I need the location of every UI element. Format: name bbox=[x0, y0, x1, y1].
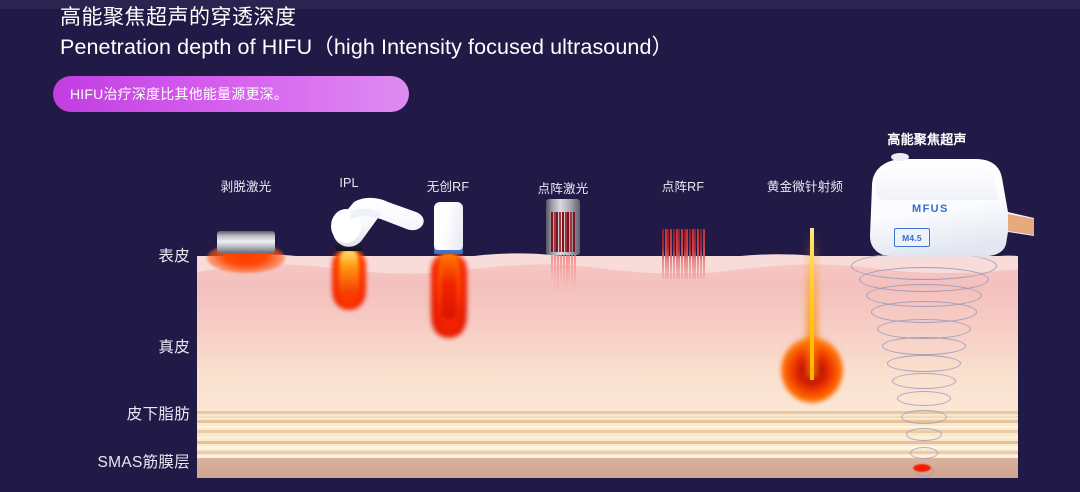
fractional-rf-line bbox=[703, 229, 705, 279]
fractional-rf-line bbox=[673, 229, 675, 279]
hifu-brand-label: MFUS bbox=[912, 203, 949, 215]
fractional-laser-microcolumns bbox=[551, 212, 575, 252]
hifu-wave-ring bbox=[887, 355, 961, 373]
layer-label-epidermis: 表皮 bbox=[40, 244, 190, 266]
fractional-laser-ray bbox=[563, 252, 565, 290]
hifu-ultrasound-cone bbox=[848, 252, 996, 474]
device-label-gold-microneedle-rf: 黄金微针射频 bbox=[767, 176, 843, 195]
hifu-cartridge-label: M4.5 bbox=[902, 233, 922, 243]
fractional-rf-line bbox=[686, 229, 688, 279]
fractional-rf-line bbox=[697, 229, 699, 279]
fractional-laser-column bbox=[562, 212, 564, 252]
fractional-laser-ray bbox=[554, 252, 556, 290]
fractional-laser-column bbox=[556, 212, 558, 252]
hifu-wave-ring bbox=[877, 319, 971, 339]
hifu-wave-ring bbox=[892, 373, 956, 389]
fractional-laser-ray bbox=[571, 252, 573, 290]
device-label-fractional-rf: 点阵RF bbox=[662, 176, 704, 195]
page-title: 高能聚焦超声的穿透深度 Penetration depth of HIFU（hi… bbox=[60, 4, 673, 62]
hifu-wave-ring bbox=[910, 447, 938, 459]
fractional-rf-line bbox=[692, 229, 694, 279]
device-label-non-ablative-rf: 无创RF bbox=[427, 176, 469, 195]
fractional-laser-column bbox=[551, 212, 553, 252]
hifu-focal-point bbox=[913, 464, 931, 472]
fractional-rf-line bbox=[689, 229, 691, 279]
ipl-beam-core bbox=[340, 250, 358, 296]
fractional-rf-line bbox=[662, 229, 664, 279]
hifu-wave-ring bbox=[882, 337, 966, 356]
fractional-rf-line bbox=[670, 229, 672, 279]
hifu-wave-ring bbox=[897, 391, 952, 406]
fractional-laser-column bbox=[554, 212, 556, 252]
fractional-laser-ray bbox=[566, 252, 568, 294]
gold-microneedle-shaft bbox=[810, 228, 814, 380]
device-label-hifu: 高能聚焦超声 bbox=[887, 129, 966, 148]
fractional-laser-column bbox=[559, 212, 561, 252]
fractional-laser-ray bbox=[568, 252, 570, 286]
fractional-laser-ray bbox=[574, 252, 576, 294]
fractional-laser-column bbox=[567, 212, 569, 252]
callout-text: HIFU治疗深度比其他能量源更深。 bbox=[53, 84, 288, 104]
ipl-handpiece bbox=[316, 196, 426, 256]
fractional-rf-line bbox=[678, 229, 680, 279]
device-label-ablative-laser: 剥脱激光 bbox=[221, 176, 272, 195]
fractional-laser-ray bbox=[560, 252, 562, 286]
callout-pill: HIFU治疗深度比其他能量源更深。 bbox=[53, 76, 409, 112]
fractional-rf-line bbox=[676, 229, 678, 279]
device-label-fractional-laser: 点阵激光 bbox=[538, 178, 589, 197]
title-english: Penetration depth of HIFU（high Intensity… bbox=[60, 32, 673, 62]
fractional-rf-line bbox=[700, 229, 702, 279]
fractional-laser-ray bbox=[557, 252, 559, 294]
hifu-cartridge-badge: M4.5 bbox=[894, 228, 930, 247]
title-chinese: 高能聚焦超声的穿透深度 bbox=[60, 4, 673, 32]
fractional-laser-ray bbox=[551, 252, 553, 286]
fractional-rf-line bbox=[681, 229, 683, 279]
fractional-laser-column bbox=[565, 212, 567, 252]
hifu-wave-ring bbox=[906, 428, 943, 441]
fractional-laser-column bbox=[570, 212, 572, 252]
fractional-laser-column bbox=[573, 212, 575, 252]
non-ablative-rf-beam-core bbox=[441, 254, 457, 320]
fractional-rf-line bbox=[667, 229, 669, 279]
fractional-rf-line bbox=[684, 229, 686, 279]
device-fractional-rf bbox=[662, 229, 706, 281]
fractional-rf-line bbox=[665, 229, 667, 279]
layer-label-smas: SMAS筋膜层 bbox=[10, 450, 190, 472]
hifu-wave-ring bbox=[901, 410, 947, 424]
fractional-laser-rays bbox=[548, 252, 580, 294]
layer-label-fat: 皮下脂肪 bbox=[30, 402, 190, 424]
device-label-ipl: IPL bbox=[339, 176, 358, 190]
layer-label-dermis: 真皮 bbox=[40, 335, 190, 357]
ablative-laser-handpiece bbox=[217, 231, 275, 253]
fractional-rf-line bbox=[694, 229, 696, 279]
infographic-canvas: 高能聚焦超声的穿透深度 Penetration depth of HIFU（hi… bbox=[0, 0, 1080, 492]
non-ablative-rf-handpiece bbox=[434, 202, 463, 250]
